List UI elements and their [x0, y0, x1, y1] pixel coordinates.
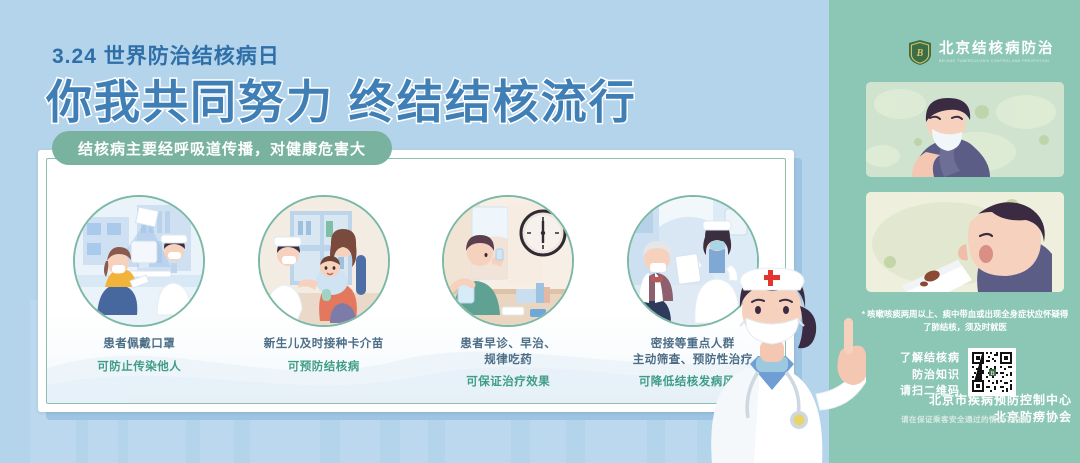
brand-logo: B 北京结核病防治 BEIJING TUBERCULOSIS CONTROL A…: [908, 39, 1055, 66]
patient-wearing-mask-consulting-doctor-icon: [73, 195, 205, 327]
panel-caption-line1: 患者佩戴口罩: [97, 337, 181, 353]
man-coughing-blood-into-tissue-icon: [866, 192, 1064, 292]
panel-list: 患者佩戴口罩 可防止传染他人: [47, 159, 785, 403]
poster-root: 3.24 世界防治结核病日 你我共同努力 终结结核流行 结核病主要经呼吸道传播，…: [0, 0, 1080, 463]
panel-caption: 患者早诊、早治、 规律吃药 可保证治疗效果: [460, 337, 556, 391]
nurse-pointing-icon: [676, 236, 866, 463]
subtitle-pill: 结核病主要经呼吸道传播，对健康危害大: [52, 131, 392, 165]
scan-line-1: 了解结核病: [900, 350, 960, 367]
brand-name-cn: 北京结核病防治: [939, 42, 1055, 57]
page-title: 你我共同努力 终结结核流行: [46, 66, 637, 132]
masked-man-coughing-icon: [866, 82, 1064, 177]
panel-caption-line1: 患者早诊、早治、: [460, 337, 556, 353]
panel-caption: 新生儿及时接种卡介苗 可预防结核病: [264, 337, 384, 375]
newborn-bcg-vaccination-icon: [258, 195, 390, 327]
panel-caption-highlight: 可预防结核病: [264, 360, 384, 376]
panel-patient-mask: 患者佩戴口罩 可防止传染他人: [47, 159, 232, 403]
photo-disclaimer: 请在保证乘客安全通过的情况下拍摄: [858, 414, 1072, 425]
scan-line-2: 防治知识: [900, 367, 960, 384]
svg-text:B: B: [990, 371, 994, 377]
panel-newborn-vaccine: 新生儿及时接种卡介苗 可预防结核病: [232, 159, 417, 403]
panel-caption-highlight: 可防止传染他人: [97, 360, 181, 376]
panel-caption: 患者佩戴口罩 可防止传染他人: [97, 337, 181, 375]
panel-caption-highlight: 可保证治疗效果: [460, 375, 556, 391]
shield-tb-logo-icon: B: [908, 39, 932, 66]
patient-taking-medicine-on-schedule-icon: [442, 195, 574, 327]
panel-take-medicine: 患者早诊、早治、 规律吃药 可保证治疗效果: [416, 159, 601, 403]
symptom-note: * 咳嗽咳痰两周以上、痰中带血或出现全身症状应怀疑得了肺结核，须及时就医: [858, 308, 1072, 334]
panel-caption-line1: 新生儿及时接种卡介苗: [264, 337, 384, 353]
content-card-inner: 患者佩戴口罩 可防止传染他人: [46, 158, 786, 404]
svg-text:B: B: [916, 48, 924, 59]
qr-code-icon[interactable]: B: [968, 348, 1016, 396]
brand-name-en: BEIJING TUBERCULOSIS CONTROL AND PREVENT…: [939, 60, 1055, 63]
panel-caption-line2: 规律吃药: [460, 353, 556, 369]
org-line-1: 北京市疾病预防控制中心: [858, 392, 1072, 409]
